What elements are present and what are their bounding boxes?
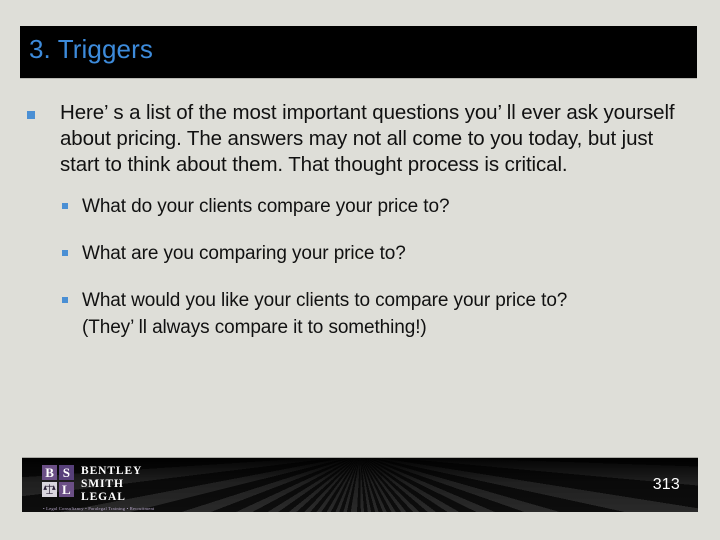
sub-bullet-text: What do your clients compare your price … [82,194,696,219]
bsl-logo-mark-icon: B S L [42,465,74,497]
logo-wordmark: BENTLEY SMITH LEGAL • Legal Consultancy … [81,465,154,512]
footer-bar: B S L BENTLEY [22,458,698,512]
list-item: What would you like your clients to comp… [60,288,696,340]
main-bullet-item: Here’ s a list of the most important que… [24,100,696,178]
list-item: What are you comparing your price to? [60,241,696,266]
logo-letter-s: S [59,465,74,480]
logo-letter-b: B [42,465,57,480]
sub-bullet-text: What are you comparing your price to? [82,241,696,266]
slide: 3. Triggers Here’ s a list of the most i… [0,0,720,540]
main-bullet-text: Here’ s a list of the most important que… [60,100,696,178]
scales-of-justice-icon [42,482,57,497]
page-title: 3. Triggers [29,34,153,65]
list-item: What do your clients compare your price … [60,194,696,219]
logo-letter-l: L [59,482,74,497]
logo: B S L BENTLEY [42,465,154,512]
logo-word-bentley: BENTLEY [81,466,154,478]
bullet-square-icon [62,203,68,209]
title-banner: 3. Triggers [20,26,697,78]
sub-bullet-text: What would you like your clients to comp… [82,288,696,313]
page-number: 313 [653,476,680,494]
logo-word-legal: LEGAL [81,492,154,504]
sub-bullet-note: (They’ ll always compare it to something… [82,315,696,340]
logo-tagline: • Legal Consultancy • Paralegal Training… [43,506,154,512]
logo-word-smith: SMITH [81,479,154,491]
sub-bullet-list: What do your clients compare your price … [24,194,696,340]
slide-body: Here’ s a list of the most important que… [24,100,696,362]
bullet-square-icon [62,297,68,303]
bullet-square-icon [62,250,68,256]
bullet-square-icon [27,111,35,119]
